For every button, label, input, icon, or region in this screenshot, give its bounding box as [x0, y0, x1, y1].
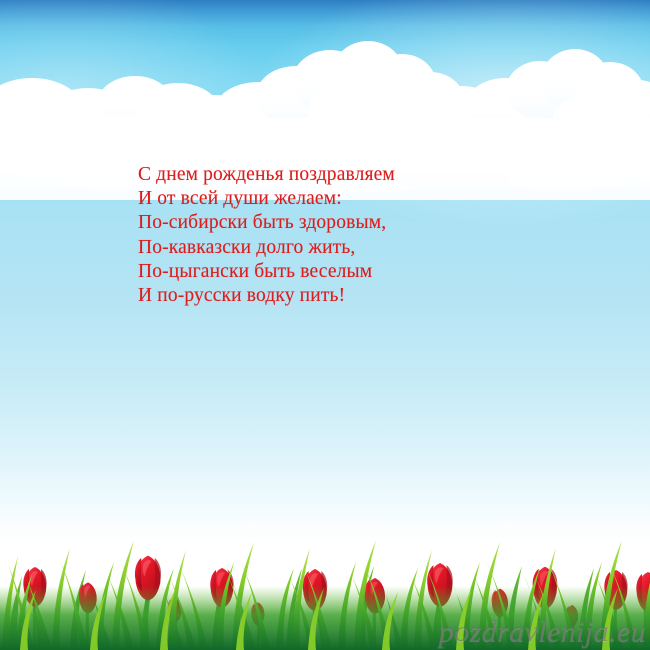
poem-line-6: И по-русски водку пить!: [138, 284, 558, 308]
poem-line-5: По-цыгански быть веселым: [138, 260, 558, 284]
poem-line-3: По-сибирски быть здоровым,: [138, 211, 558, 235]
poem-line-2: И от всей души желаем:: [138, 187, 558, 211]
greeting-card: С днем рожденья поздравляем И от всей ду…: [0, 0, 650, 650]
poem-text-block: С днем рожденья поздравляем И от всей ду…: [138, 163, 558, 308]
meadow-grass-tulips: [0, 490, 650, 650]
poem-line-1: С днем рожденья поздравляем: [138, 163, 558, 187]
poem-line-4: По-кавказски долго жить,: [138, 236, 558, 260]
